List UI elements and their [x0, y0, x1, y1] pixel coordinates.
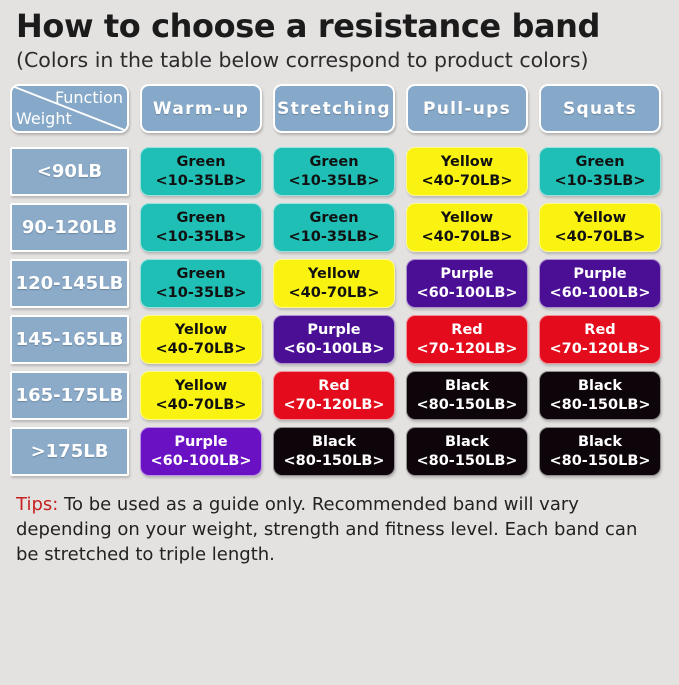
tips-body-text: To be used as a guide only. Recommended … [16, 494, 637, 565]
resistance-band-table: Function Weight Warm-up Stretching Pull-… [10, 84, 669, 476]
table-row: 120-145LBGreen<10-35LB>Yellow<40-70LB>Pu… [10, 259, 669, 308]
corner-weight-label: Weight [16, 108, 72, 130]
band-resistance-range: <80-150LB> [549, 396, 650, 415]
band-cell: Green<10-35LB> [140, 259, 262, 308]
resistance-band-guide: How to choose a resistance band (Colors … [0, 6, 679, 685]
band-cell: Black<80-150LB> [539, 427, 661, 476]
weight-range-label: <90LB [10, 147, 129, 196]
band-cell: Green<10-35LB> [273, 203, 395, 252]
band-color-name: Green [176, 209, 225, 228]
band-resistance-range: <40-70LB> [156, 396, 247, 415]
band-color-name: Yellow [574, 209, 626, 228]
band-cell: Purple<60-100LB> [406, 259, 528, 308]
band-color-name: Yellow [175, 321, 227, 340]
table-body: <90LBGreen<10-35LB>Green<10-35LB>Yellow<… [10, 147, 669, 476]
band-color-name: Green [176, 153, 225, 172]
band-resistance-range: <70-120LB> [283, 396, 384, 415]
weight-range-label: 145-165LB [10, 315, 129, 364]
band-color-name: Black [312, 433, 356, 452]
band-color-name: Red [451, 321, 482, 340]
band-color-name: Green [309, 209, 358, 228]
weight-range-label: 165-175LB [10, 371, 129, 420]
band-color-name: Red [318, 377, 349, 396]
band-cell: Red<70-120LB> [539, 315, 661, 364]
band-resistance-range: <40-70LB> [156, 340, 247, 359]
band-cell: Green<10-35LB> [140, 203, 262, 252]
band-color-name: Yellow [175, 377, 227, 396]
band-resistance-range: <60-100LB> [150, 452, 251, 471]
band-cell: Yellow<40-70LB> [406, 203, 528, 252]
band-resistance-range: <10-35LB> [156, 228, 247, 247]
band-color-name: Green [575, 153, 624, 172]
tips-lead-label: Tips: [16, 494, 58, 515]
band-color-name: Black [578, 377, 622, 396]
band-cell: Black<80-150LB> [406, 371, 528, 420]
column-header-warm-up: Warm-up [140, 84, 262, 133]
tips-note: Tips: To be used as a guide only. Recomm… [16, 492, 665, 567]
band-color-name: Purple [573, 265, 626, 284]
band-cell: Purple<60-100LB> [539, 259, 661, 308]
band-resistance-range: <60-100LB> [549, 284, 650, 303]
band-resistance-range: <10-35LB> [555, 172, 646, 191]
band-cell: Black<80-150LB> [539, 371, 661, 420]
band-resistance-range: <60-100LB> [416, 284, 517, 303]
band-color-name: Black [578, 433, 622, 452]
band-color-name: Purple [307, 321, 360, 340]
band-cell: Yellow<40-70LB> [140, 371, 262, 420]
weight-range-label: 90-120LB [10, 203, 129, 252]
band-resistance-range: <10-35LB> [156, 172, 247, 191]
band-color-name: Yellow [441, 153, 493, 172]
band-resistance-range: <80-150LB> [283, 452, 384, 471]
band-resistance-range: <80-150LB> [416, 396, 517, 415]
band-resistance-range: <40-70LB> [422, 228, 513, 247]
band-cell: Red<70-120LB> [406, 315, 528, 364]
band-cell: Green<10-35LB> [539, 147, 661, 196]
band-cell: Green<10-35LB> [140, 147, 262, 196]
band-color-name: Yellow [441, 209, 493, 228]
page-title: How to choose a resistance band [16, 6, 669, 46]
band-color-name: Red [584, 321, 615, 340]
band-resistance-range: <10-35LB> [289, 172, 380, 191]
weight-range-label: 120-145LB [10, 259, 129, 308]
band-cell: Yellow<40-70LB> [273, 259, 395, 308]
band-color-name: Green [176, 265, 225, 284]
table-header-row: Function Weight Warm-up Stretching Pull-… [10, 84, 669, 133]
band-resistance-range: <80-150LB> [416, 452, 517, 471]
band-color-name: Black [445, 433, 489, 452]
band-color-name: Purple [174, 433, 227, 452]
band-cell: Green<10-35LB> [273, 147, 395, 196]
band-cell: Purple<60-100LB> [273, 315, 395, 364]
band-resistance-range: <80-150LB> [549, 452, 650, 471]
band-cell: Black<80-150LB> [406, 427, 528, 476]
band-resistance-range: <40-70LB> [289, 284, 380, 303]
table-row: 90-120LBGreen<10-35LB>Green<10-35LB>Yell… [10, 203, 669, 252]
column-header-stretching: Stretching [273, 84, 395, 133]
band-resistance-range: <40-70LB> [555, 228, 646, 247]
band-cell: Yellow<40-70LB> [539, 203, 661, 252]
page-subtitle: (Colors in the table below correspond to… [16, 47, 669, 73]
weight-range-label: >175LB [10, 427, 129, 476]
band-cell: Purple<60-100LB> [140, 427, 262, 476]
table-row: <90LBGreen<10-35LB>Green<10-35LB>Yellow<… [10, 147, 669, 196]
column-header-pull-ups: Pull-ups [406, 84, 528, 133]
band-resistance-range: <10-35LB> [289, 228, 380, 247]
band-resistance-range: <40-70LB> [422, 172, 513, 191]
band-resistance-range: <70-120LB> [416, 340, 517, 359]
band-color-name: Purple [440, 265, 493, 284]
band-cell: Yellow<40-70LB> [406, 147, 528, 196]
table-row: 165-175LBYellow<40-70LB>Red<70-120LB>Bla… [10, 371, 669, 420]
table-row: 145-165LBYellow<40-70LB>Purple<60-100LB>… [10, 315, 669, 364]
table-row: >175LBPurple<60-100LB>Black<80-150LB>Bla… [10, 427, 669, 476]
band-resistance-range: <70-120LB> [549, 340, 650, 359]
corner-function-label: Function [55, 87, 123, 109]
band-cell: Red<70-120LB> [273, 371, 395, 420]
band-cell: Yellow<40-70LB> [140, 315, 262, 364]
band-resistance-range: <60-100LB> [283, 340, 384, 359]
band-color-name: Green [309, 153, 358, 172]
band-resistance-range: <10-35LB> [156, 284, 247, 303]
band-color-name: Black [445, 377, 489, 396]
corner-cell-function-weight: Function Weight [10, 84, 129, 133]
column-header-squats: Squats [539, 84, 661, 133]
band-cell: Black<80-150LB> [273, 427, 395, 476]
band-color-name: Yellow [308, 265, 360, 284]
